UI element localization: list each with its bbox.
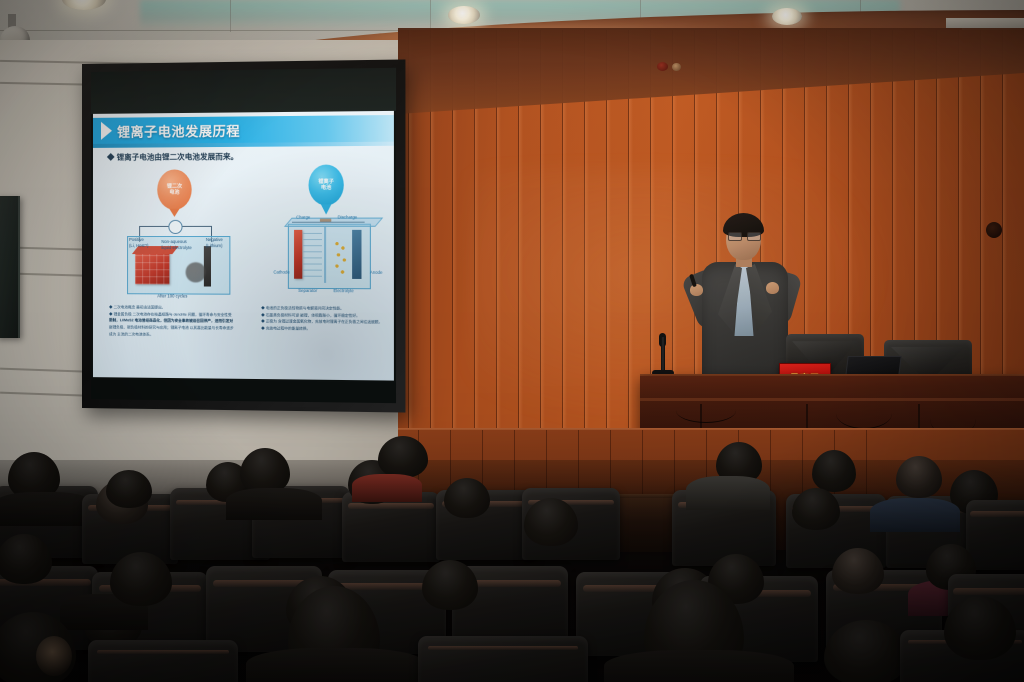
cable	[676, 398, 736, 423]
figure-label: Anode	[370, 271, 383, 276]
audience-head	[896, 456, 942, 498]
audience-shoulders	[352, 474, 422, 502]
microphone-stem	[661, 337, 665, 373]
positive-electrode	[135, 252, 169, 284]
chevron-right-icon	[101, 122, 112, 140]
figure-label: Discharge	[338, 216, 358, 221]
slide-text-right: ◆ 电池的正负极活性物质与电解液共同决定性能。 ◆ 石墨类负极材料可逆 嵌锂，体…	[261, 305, 394, 333]
callout-balloon-orange: 锂二次 电池	[157, 169, 191, 209]
figure-label: Charge	[296, 216, 310, 221]
lithium-ions	[331, 236, 350, 279]
letterbox-band	[91, 68, 396, 114]
auditorium-seat[interactable]	[88, 640, 238, 682]
cathode-layers	[303, 232, 322, 277]
figure-label: Cathode	[273, 271, 289, 276]
audience-head	[524, 498, 578, 546]
cathode	[294, 230, 302, 279]
presenter-hand	[766, 282, 779, 294]
balloon-tail	[169, 209, 179, 217]
dendrite-deposit	[186, 262, 206, 282]
balloon-tail	[321, 204, 331, 214]
audience-shoulders	[870, 498, 960, 532]
ceiling-downlight	[448, 6, 480, 24]
figure-label: Non-aqueous	[161, 240, 186, 245]
figure-label: (Lithium)	[206, 244, 223, 249]
vent-frame	[946, 18, 1024, 28]
ammeter-symbol	[168, 220, 182, 234]
figure-label: Electrolyte	[333, 289, 353, 294]
audience-head	[812, 450, 856, 492]
audience-shoulders	[604, 650, 794, 682]
wall-mounted-fixture	[0, 196, 20, 338]
ceiling-tile-seam	[230, 0, 231, 32]
audience-head	[832, 548, 884, 594]
screen-surface: 锂离子电池发展历程 ◆ 锂离子电池由锂二次电池发展而来。 锂二次 电池	[91, 68, 396, 403]
presentation-slide: 锂离子电池发展历程 ◆ 锂离子电池由锂二次电池发展而来。 锂二次 电池	[93, 111, 394, 381]
audience-head	[110, 552, 172, 606]
wall-fitting	[657, 62, 668, 71]
lecture-hall-photo: 锂离子电池发展历程 ◆ 锂离子电池由锂二次电池发展而来。 锂二次 电池	[0, 0, 1024, 682]
auditorium-seat[interactable]	[966, 500, 1024, 570]
slide-bullet-line: ◆ 锂离子电池由锂二次电池发展而来。	[107, 151, 238, 163]
separator	[324, 226, 326, 283]
audience-shoulders	[246, 648, 426, 682]
audience-head	[444, 478, 490, 518]
negative-electrode	[204, 246, 211, 286]
figure-label: Negative	[206, 238, 223, 243]
audience-face	[36, 636, 72, 676]
figure-label: liquid electrolyte	[161, 246, 191, 251]
ceiling-downlight	[772, 8, 802, 25]
projection-screen[interactable]: 锂离子电池发展历程 ◆ 锂离子电池由锂二次电池发展而来。 锂二次 电池	[82, 59, 405, 412]
audience-head	[422, 560, 478, 610]
wall-fitting	[672, 63, 681, 71]
cable	[836, 398, 892, 429]
callout-balloon-blue: 锂离子 电池	[309, 165, 344, 206]
figure-label: Separator	[298, 289, 317, 294]
slide-title: 锂离子电池发展历程	[117, 120, 240, 140]
figure-label: After 100 cycles	[157, 294, 187, 299]
wall-speaker-hole	[986, 222, 1002, 238]
audience-head	[378, 436, 428, 478]
audience-shoulders	[226, 488, 322, 520]
anode	[352, 230, 361, 279]
balloon-label: 锂二次 电池	[167, 183, 182, 196]
figure-label: (Li, Host?)	[129, 244, 148, 249]
slide-text-left: ◆ 二次电池概念 最初由法国提出。 ◆ 锂金属负极 二次电池存在枝晶短路与 de…	[109, 304, 251, 338]
auditorium-seat[interactable]	[342, 492, 440, 562]
slide-text-line: ◆ 充放电过程中的能量转换。	[261, 325, 394, 333]
lithium-secondary-cell-diagram: 锂二次 电池	[117, 169, 243, 297]
slide-title-bar: 锂离子电池发展历程	[93, 115, 394, 144]
slide-text-line: 成为 主流的二次电池体系。	[109, 331, 251, 339]
audience-shoulders	[686, 476, 770, 510]
glasses-icon	[728, 232, 759, 239]
auditorium-seat[interactable]	[418, 636, 588, 682]
figure-label: Positive	[129, 238, 144, 243]
lithium-ion-cell-diagram: 锂离子 电池 Cha	[273, 164, 389, 299]
balloon-label: 锂离子 电池	[318, 179, 334, 192]
letterbox-band	[91, 379, 396, 403]
audience-head	[106, 470, 152, 508]
audience-head	[792, 488, 840, 530]
